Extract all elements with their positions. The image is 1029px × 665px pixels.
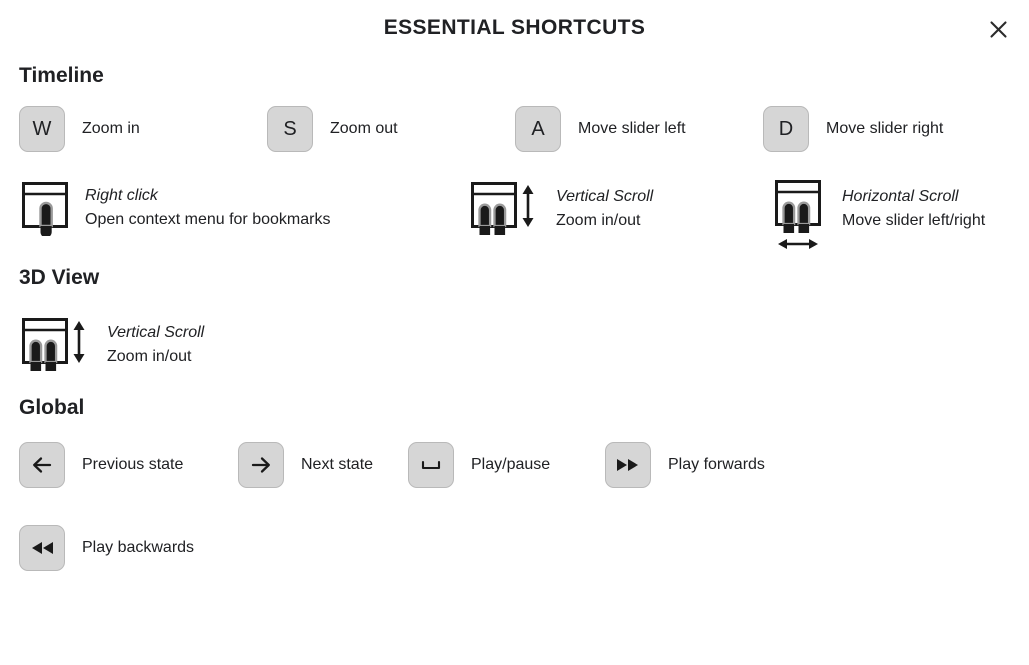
- essential-shortcuts-dialog: ESSENTIAL SHORTCUTS Timeline W Zoom in S…: [0, 0, 1029, 665]
- trackpad-one-finger-icon: [19, 180, 71, 236]
- view3d-gesture-row: Vertical Scroll Zoom in/out: [0, 316, 1029, 374]
- gesture-name-vertical-scroll-3d: Vertical Scroll: [107, 321, 204, 345]
- gesture-desc-right-click: Open context menu for bookmarks: [85, 208, 330, 232]
- shortcut-label-previous-state: Previous state: [82, 456, 183, 474]
- trackpad-two-finger-vertical-scroll-icon: [468, 180, 542, 238]
- space-bar-icon: [418, 453, 444, 477]
- dialog-title: ESSENTIAL SHORTCUTS: [384, 16, 646, 40]
- shortcut-label-zoom-in: Zoom in: [82, 120, 140, 138]
- shortcut-zoom-in[interactable]: W Zoom in: [19, 106, 267, 152]
- shortcut-label-play-backwards: Play backwards: [82, 539, 194, 557]
- trackpad-two-finger-vertical-scroll-icon: [19, 316, 93, 374]
- trackpad-two-finger-horizontal-scroll-icon: [772, 178, 828, 254]
- gesture-horizontal-scroll[interactable]: Horizontal Scroll Move slider left/right: [772, 178, 985, 254]
- gesture-name-right-click: Right click: [85, 184, 330, 208]
- shortcut-play-forwards[interactable]: Play forwards: [605, 442, 765, 488]
- key-d[interactable]: D: [763, 106, 809, 152]
- shortcut-play-backwards[interactable]: Play backwards: [19, 525, 194, 571]
- section-heading-timeline: Timeline: [0, 64, 1029, 88]
- gesture-desc-vertical-scroll-3d: Zoom in/out: [107, 345, 204, 369]
- arrow-right-icon: [249, 453, 273, 477]
- gesture-desc-vertical-scroll: Zoom in/out: [556, 209, 653, 233]
- key-arrow-right[interactable]: [238, 442, 284, 488]
- rewind-icon: [27, 538, 57, 558]
- key-rewind[interactable]: [19, 525, 65, 571]
- gesture-desc-horizontal-scroll: Move slider left/right: [842, 209, 985, 233]
- shortcut-zoom-out[interactable]: S Zoom out: [267, 106, 515, 152]
- key-w[interactable]: W: [19, 106, 65, 152]
- arrow-left-icon: [30, 453, 54, 477]
- shortcut-move-slider-left[interactable]: A Move slider left: [515, 106, 763, 152]
- timeline-gesture-row: Right click Open context menu for bookma…: [0, 178, 1029, 254]
- gesture-text-right-click: Right click Open context menu for bookma…: [85, 184, 330, 232]
- key-s[interactable]: S: [267, 106, 313, 152]
- global-key-row-1: Previous state Next state Play/paus: [0, 442, 1029, 488]
- gesture-vertical-scroll-3d[interactable]: Vertical Scroll Zoom in/out: [19, 316, 204, 374]
- shortcut-next-state[interactable]: Next state: [238, 442, 408, 488]
- gesture-right-click[interactable]: Right click Open context menu for bookma…: [19, 180, 468, 236]
- key-fast-forward[interactable]: [605, 442, 651, 488]
- close-button[interactable]: [983, 14, 1013, 44]
- global-key-row-2: Play backwards: [0, 525, 1029, 571]
- vertical-double-arrow-icon: [523, 185, 534, 227]
- section-heading-3d-view: 3D View: [0, 266, 1029, 290]
- gesture-text-vertical-scroll-timeline: Vertical Scroll Zoom in/out: [556, 185, 653, 233]
- section-heading-global: Global: [0, 396, 1029, 420]
- shortcut-label-next-state: Next state: [301, 456, 373, 474]
- gesture-name-vertical-scroll: Vertical Scroll: [556, 185, 653, 209]
- shortcut-label-move-slider-left: Move slider left: [578, 120, 686, 138]
- shortcut-label-play-forwards: Play forwards: [668, 456, 765, 474]
- fast-forward-icon: [613, 455, 643, 475]
- close-icon: [989, 20, 1008, 39]
- shortcut-play-pause[interactable]: Play/pause: [408, 442, 605, 488]
- shortcut-label-play-pause: Play/pause: [471, 456, 550, 474]
- timeline-key-row: W Zoom in S Zoom out A Move slider left …: [0, 106, 1029, 152]
- key-arrow-left[interactable]: [19, 442, 65, 488]
- key-space-bar[interactable]: [408, 442, 454, 488]
- key-a[interactable]: A: [515, 106, 561, 152]
- shortcut-move-slider-right[interactable]: D Move slider right: [763, 106, 943, 152]
- horizontal-double-arrow-icon: [778, 239, 818, 249]
- gesture-text-horizontal-scroll: Horizontal Scroll Move slider left/right: [842, 185, 985, 233]
- shortcut-previous-state[interactable]: Previous state: [19, 442, 238, 488]
- shortcut-label-zoom-out: Zoom out: [330, 120, 398, 138]
- dialog-header: ESSENTIAL SHORTCUTS: [0, 0, 1029, 56]
- vertical-double-arrow-icon: [74, 321, 85, 363]
- gesture-name-horizontal-scroll: Horizontal Scroll: [842, 185, 985, 209]
- gesture-vertical-scroll-timeline[interactable]: Vertical Scroll Zoom in/out: [468, 180, 765, 238]
- shortcut-label-move-slider-right: Move slider right: [826, 120, 943, 138]
- gesture-text-vertical-scroll-3d: Vertical Scroll Zoom in/out: [107, 321, 204, 369]
